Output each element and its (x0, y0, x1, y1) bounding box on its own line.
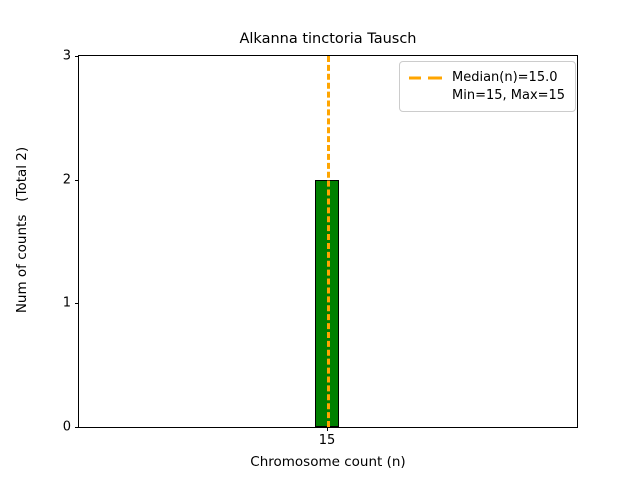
legend-label-minmax: Min=15, Max=15 (452, 87, 565, 105)
page-title: Alkanna tinctoria Tausch (78, 31, 578, 47)
x-axis-label: Chromosome count (n) (78, 454, 578, 470)
y-axis-label: Num of counts (Total 2) (14, 0, 30, 480)
ytick-mark (75, 303, 79, 304)
ytick-label: 1 (63, 297, 71, 310)
ytick-mark (75, 427, 79, 428)
legend-entry-minmax: Min=15, Max=15 (452, 87, 565, 105)
ytick-label: 2 (63, 173, 71, 186)
xtick-label: 15 (319, 434, 336, 447)
figure-canvas: Alkanna tinctoria Tausch 0 1 2 3 (0, 0, 640, 480)
legend-box[interactable]: Median(n)=15.0 Min=15, Max=15 (399, 61, 576, 112)
xtick-mark (327, 427, 328, 431)
ytick-label: 3 (63, 50, 71, 63)
dashed-line-icon (409, 73, 443, 83)
plot-axes: 0 1 2 3 15 Median(n)=15.0 Min=15, Max=15 (78, 55, 578, 428)
ytick-label: 0 (63, 421, 71, 434)
median-line (327, 56, 330, 427)
ytick-mark (75, 180, 79, 181)
legend-label-median: Median(n)=15.0 (452, 69, 558, 87)
legend-entry-median: Median(n)=15.0 (409, 69, 565, 87)
ytick-mark (75, 56, 79, 57)
